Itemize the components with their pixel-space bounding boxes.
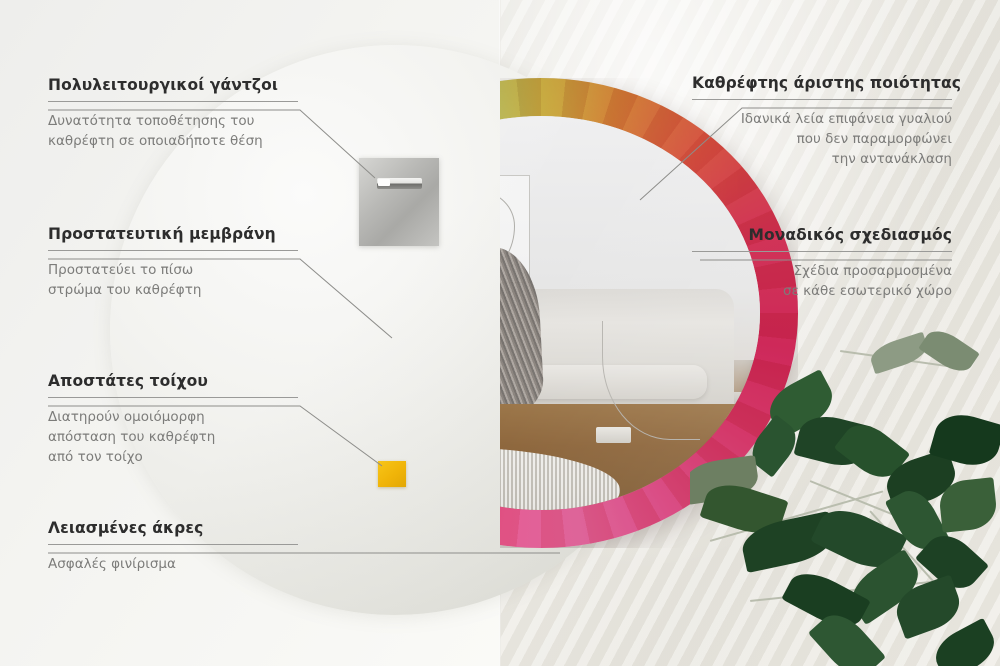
- callout-body: Προστατεύει το πίσω στρώμα του καθρέφτη: [48, 260, 298, 300]
- callout-unique-design: Μοναδικός σχεδιασμός Σχέδια προσαρμοσμέν…: [692, 226, 952, 301]
- callout-protective-membrane: Προστατευτική μεμβράνη Προστατεύει το πί…: [48, 225, 298, 300]
- callout-title: Μοναδικός σχεδιασμός: [692, 226, 952, 244]
- infographic-canvas: Πολυλειτουργικοί γάντζοι Δυνατότητα τοπο…: [0, 0, 1000, 666]
- spacer-detail: [378, 461, 406, 487]
- callout-body: Διατηρούν ομοιόμορφη απόσταση του καθρέφ…: [48, 407, 298, 467]
- callout-body: Δυνατότητα τοποθέτησης του καθρέφτη σε ο…: [48, 111, 298, 151]
- callout-smoothed-edges: Λειασμένες άκρες Ασφαλές φινίρισμα: [48, 519, 298, 574]
- hook-slot-icon: [377, 178, 422, 189]
- callout-top-quality-mirror: Καθρέφτης άριστης ποιότητας Ιδανικά λεία…: [692, 74, 952, 169]
- callout-title: Πολυλειτουργικοί γάντζοι: [48, 76, 298, 94]
- callout-title: Αποστάτες τοίχου: [48, 372, 298, 390]
- callout-rule: [692, 251, 952, 252]
- foliage-decoration: [690, 330, 1000, 666]
- leaf: [918, 330, 980, 379]
- leaf: [867, 332, 930, 375]
- callout-title: Λειασμένες άκρες: [48, 519, 298, 537]
- callout-wall-spacers: Αποστάτες τοίχου Διατηρούν ομοιόμορφη απ…: [48, 372, 298, 467]
- callout-multifunctional-hooks: Πολυλειτουργικοί γάντζοι Δυνατότητα τοπο…: [48, 76, 298, 151]
- hook-detail: [359, 158, 439, 246]
- callout-body: Σχέδια προσαρμοσμένα σε κάθε εσωτερικό χ…: [692, 261, 952, 301]
- callout-rule: [692, 99, 952, 100]
- callout-rule: [48, 544, 298, 545]
- callout-rule: [48, 101, 298, 102]
- callout-body: Ιδανικά λεία επιφάνεια γυαλιού που δεν π…: [692, 109, 952, 169]
- callout-rule: [48, 397, 298, 398]
- callout-title: Καθρέφτης άριστης ποιότητας: [692, 74, 952, 92]
- callout-title: Προστατευτική μεμβράνη: [48, 225, 298, 243]
- callout-rule: [48, 250, 298, 251]
- callout-body: Ασφαλές φινίρισμα: [48, 554, 298, 574]
